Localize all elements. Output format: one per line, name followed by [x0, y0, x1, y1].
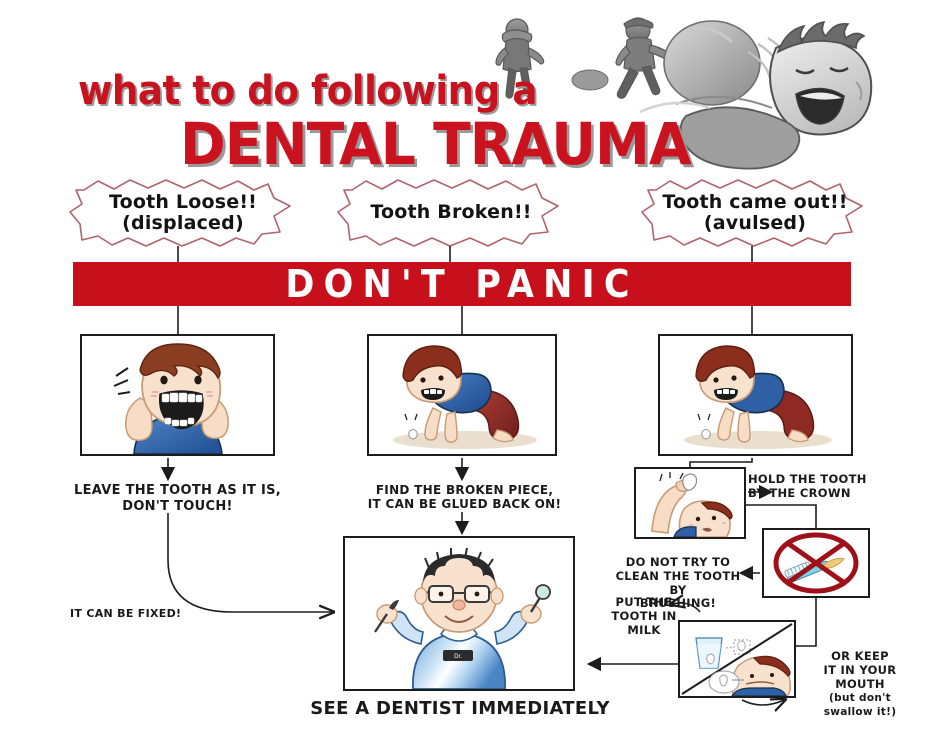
no-brushing-panel [762, 528, 870, 598]
milk-or-mouth-panel [678, 620, 796, 698]
dentist-panel: Dr. [343, 536, 575, 691]
caption-leave-tooth: LEAVE THE TOOTH AS IT IS, DON'T TOUCH! [60, 483, 295, 514]
bubble-text-line1: Tooth Broken!! [370, 202, 531, 223]
dont-panic-banner: DON'T PANIC [73, 262, 851, 306]
page-title-line-2: DENTAL TRAUMA [180, 110, 691, 178]
svg-text:Dr.: Dr. [454, 654, 462, 660]
caption-keep-in-mouth-note: (but don't swallow it!) [824, 692, 897, 718]
bubble-tooth-loose: Tooth Loose!! (displaced) [68, 178, 298, 248]
bubble-tooth-broken: Tooth Broken!! [336, 178, 566, 248]
bubble-tooth-avulsed: Tooth came out!! (avulsed) [640, 178, 870, 248]
bubble-text-line2: (avulsed) [704, 213, 806, 234]
caption-keep-in-mouth: OR KEEP IT IN YOUR MOUTH (but don't swal… [800, 650, 920, 719]
caption-see-dentist: SEE A DENTIST IMMEDIATELY [300, 698, 620, 720]
flying-ball [664, 21, 760, 105]
boy-screaming-panel [80, 334, 275, 456]
ground-ball [572, 70, 608, 90]
caption-put-in-milk: PUT THE TOOTH IN MILK [608, 596, 680, 637]
caption-find-piece: FIND THE BROKEN PIECE, IT CAN BE GLUED B… [352, 483, 577, 512]
bubble-text-line1: Tooth Loose!! [109, 192, 257, 213]
boy-searching-panel-avulsed [658, 334, 853, 456]
hold-tooth-panel [634, 467, 746, 539]
bubble-text-line2: (displaced) [122, 213, 244, 234]
caption-hold-by-crown: HOLD THE TOOTH BY THE CROWN [748, 473, 873, 501]
boy-searching-panel-broken [367, 334, 557, 456]
caption-keep-in-mouth-main: OR KEEP IT IN YOUR MOUTH [824, 649, 897, 691]
dont-panic-text: DON'T PANIC [285, 262, 638, 306]
bubble-text-line1: Tooth came out!! [662, 192, 847, 213]
caption-can-be-fixed: IT CAN BE FIXED! [70, 607, 250, 620]
page-title-line-1: what to do following a [78, 68, 537, 114]
dental-trauma-infographic: what to do following a DENTAL TRAUMA Too… [0, 0, 930, 754]
boy-face-hit [770, 22, 871, 134]
